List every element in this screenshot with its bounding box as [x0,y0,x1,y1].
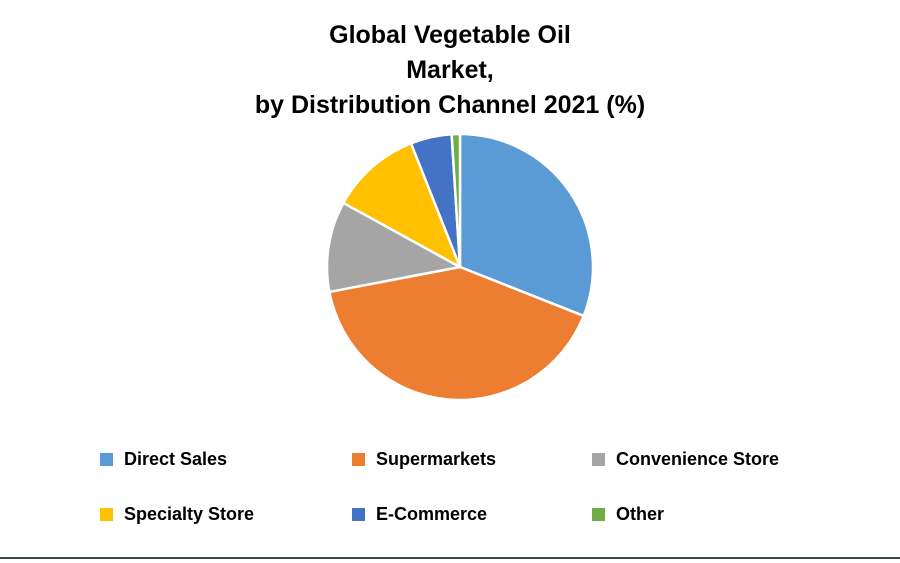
pie-svg [315,124,605,414]
bottom-divider [0,557,900,559]
pie-slice-group [327,134,593,400]
legend-item-convenience-store[interactable]: Convenience Store [592,448,820,503]
chart-legend: Direct Sales Supermarkets Convenience St… [100,448,820,558]
legend-swatch-direct-sales [100,453,113,466]
pie-plot-area [315,124,605,414]
legend-label-direct-sales: Direct Sales [124,448,227,470]
legend-item-other[interactable]: Other [592,503,820,558]
legend-label-specialty-store: Specialty Store [124,503,254,525]
legend-label-supermarkets: Supermarkets [376,448,496,470]
pie-chart-figure: Global Vegetable Oil Market, by Distribu… [0,0,900,563]
legend-label-e-commerce: E-Commerce [376,503,487,525]
legend-item-direct-sales[interactable]: Direct Sales [100,448,352,503]
legend-swatch-convenience-store [592,453,605,466]
legend-item-e-commerce[interactable]: E-Commerce [352,503,592,558]
legend-label-convenience-store: Convenience Store [616,448,779,470]
legend-swatch-specialty-store [100,508,113,521]
legend-swatch-supermarkets [352,453,365,466]
legend-swatch-other [592,508,605,521]
legend-item-specialty-store[interactable]: Specialty Store [100,503,352,558]
legend-swatch-e-commerce [352,508,365,521]
legend-label-other: Other [616,503,664,525]
chart-title: Global Vegetable Oil Market, by Distribu… [150,18,750,123]
chart-title-line-3: by Distribution Channel 2021 (%) [150,88,750,123]
chart-title-line-2: Market, [150,53,750,88]
legend-item-supermarkets[interactable]: Supermarkets [352,448,592,503]
chart-title-line-1: Global Vegetable Oil [150,18,750,53]
